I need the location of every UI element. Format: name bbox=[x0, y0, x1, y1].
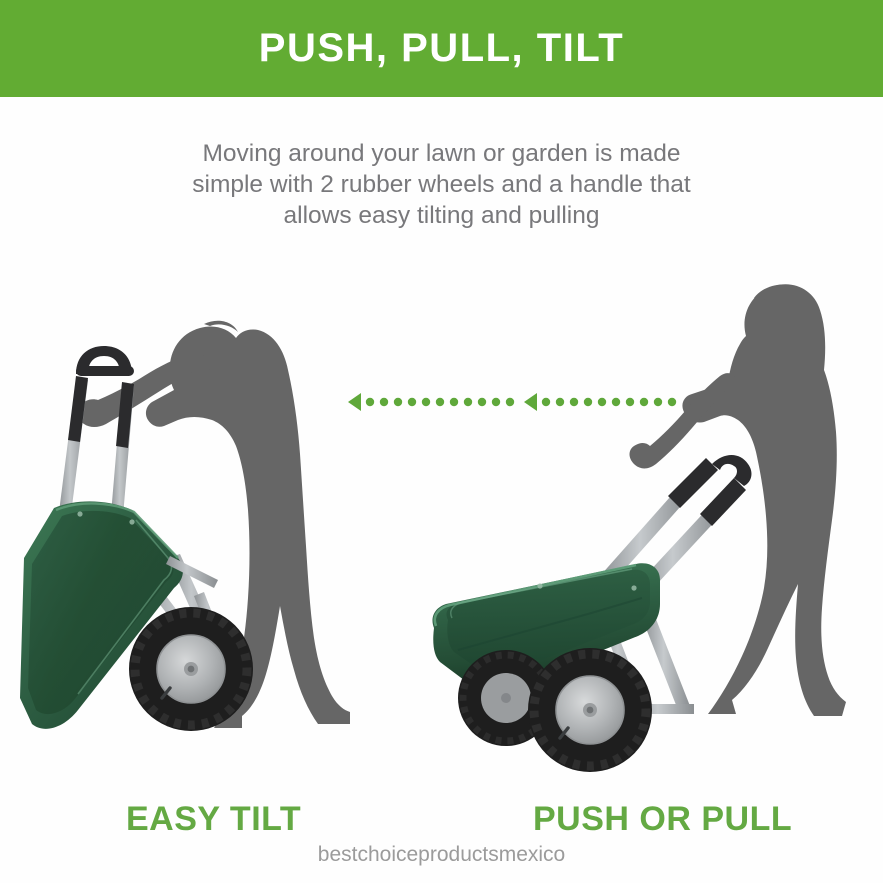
handle-crossbar bbox=[76, 366, 134, 376]
axle-nut bbox=[188, 666, 195, 673]
subtitle-line-2: simple with 2 rubber wheels and a handle… bbox=[141, 169, 742, 200]
page-title: PUSH, PULL, TILT bbox=[0, 0, 883, 97]
grip-front bbox=[700, 478, 746, 526]
tub-rivet bbox=[537, 583, 542, 588]
scene-push-or-pull bbox=[428, 258, 868, 748]
subtitle-text: Moving around your lawn or garden is mad… bbox=[141, 138, 742, 231]
infographic-root: PUSH, PULL, TILT Moving around your lawn… bbox=[0, 0, 883, 883]
caption-push-or-pull: PUSH OR PULL bbox=[533, 800, 792, 839]
tub-rivet bbox=[77, 511, 82, 516]
axle-nut bbox=[587, 707, 594, 714]
hub-center bbox=[501, 693, 511, 703]
subtitle-line-1: Moving around your lawn or garden is mad… bbox=[141, 138, 742, 169]
watermark-text: bestchoiceproductsmexico bbox=[0, 843, 883, 867]
scene-easy-tilt bbox=[18, 258, 358, 748]
tub-rivet bbox=[129, 519, 134, 524]
caption-easy-tilt: EASY TILT bbox=[126, 800, 301, 839]
wheel bbox=[129, 607, 253, 731]
wheelbarrow-upright bbox=[433, 455, 752, 772]
subtitle-line-3: allows easy tilting and pulling bbox=[141, 200, 742, 231]
grip-rear bbox=[668, 458, 718, 508]
tub-rivet bbox=[631, 585, 636, 590]
wheel-near bbox=[528, 648, 652, 772]
